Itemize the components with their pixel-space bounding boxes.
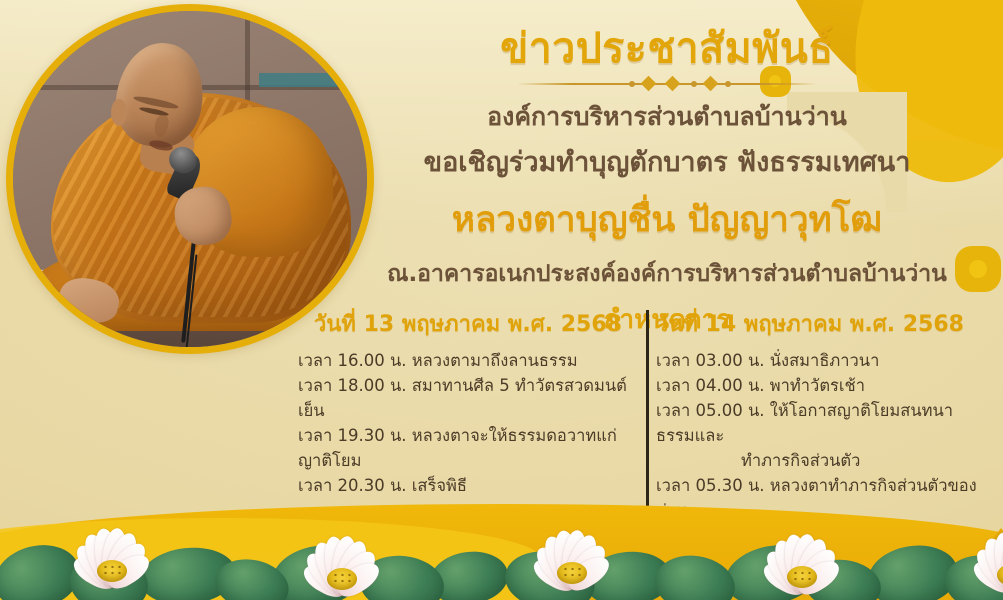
lotus-flower-icon	[750, 512, 854, 598]
lotus-decoration-band	[0, 494, 1003, 600]
photo-inner	[13, 11, 367, 347]
page-title: ข่าวประชาสัมพันธ์	[372, 26, 962, 71]
lotus-flower-icon	[290, 514, 394, 600]
schedule-section: วันที่ 13 พฤษภาคม พ.ศ. 2568 เวลา 16.00 น…	[298, 306, 988, 521]
title-divider-ornament	[517, 77, 817, 91]
schedule-date-day1: วันที่ 13 พฤษภาคม พ.ศ. 2568	[298, 306, 638, 341]
schedule-row: เวลา 04.00 น. พาทำวัตรเช้า	[656, 373, 988, 398]
schedule-row: เวลา 19.30 น. หลวงตาจะให้ธรรมดอวาทแก่ญาต…	[298, 423, 638, 473]
monk-ear	[111, 99, 127, 126]
poster-canvas: ข่าวประชาสัมพันธ์ องค์การบริหารส่วนตำบลบ…	[0, 0, 1003, 600]
schedule-row: เวลา 05.00 น. ให้โอกาสญาติโยมสนทนาธรรมแล…	[656, 398, 988, 473]
schedule-row: เวลา 03.00 น. นั่งสมาธิภาวนา	[656, 348, 988, 373]
lotus-seed-pod	[787, 566, 817, 588]
invitation-line: ขอเชิญร่วมทำบุญตักบาตร ฟังธรรมเทศนา	[372, 140, 962, 183]
schedule-column-day1: วันที่ 13 พฤษภาคม พ.ศ. 2568 เวลา 16.00 น…	[298, 306, 638, 498]
schedule-date-day2: วันที่ 14 พฤษภาคม พ.ศ. 2568	[656, 306, 988, 341]
photo-wall-seam-vertical	[245, 11, 250, 101]
schedule-row: เวลา 18.00 น. สมาทานศีล 5 ทำวัตรสวดมนต์เ…	[298, 373, 638, 423]
monk-portrait-photo	[6, 4, 374, 354]
headline-block: ข่าวประชาสัมพันธ์ องค์การบริหารส่วนตำบลบ…	[372, 26, 962, 340]
lotus-flower-icon	[520, 508, 624, 594]
lotus-seed-pod	[97, 560, 127, 582]
lotus-flower-icon	[960, 510, 1003, 596]
lotus-seed-pod	[327, 568, 357, 590]
schedule-row: เวลา 16.00 น. หลวงตามาถึงลานธรรม	[298, 348, 638, 373]
lotus-seed-pod	[557, 562, 587, 584]
schedule-rows-day1: เวลา 16.00 น. หลวงตามาถึงลานธรรมเวลา 18.…	[298, 348, 638, 498]
column-divider	[646, 310, 649, 518]
photo-wall-accent	[259, 73, 367, 87]
venue-line: ณ.อาคารอเนกประสงค์องค์การบริหารส่วนตำบลบ…	[372, 256, 962, 292]
lotus-flower-icon	[60, 506, 164, 592]
schedule-row-continuation: ทำภารกิจส่วนตัว	[656, 448, 988, 473]
monk-name: หลวงตาบุญชื่น ปัญญาวุทโฒ	[372, 192, 962, 247]
flower-ornament-icon	[952, 243, 1003, 295]
organization-line: องค์การบริหารส่วนตำบลบ้านว่าน	[372, 101, 962, 133]
